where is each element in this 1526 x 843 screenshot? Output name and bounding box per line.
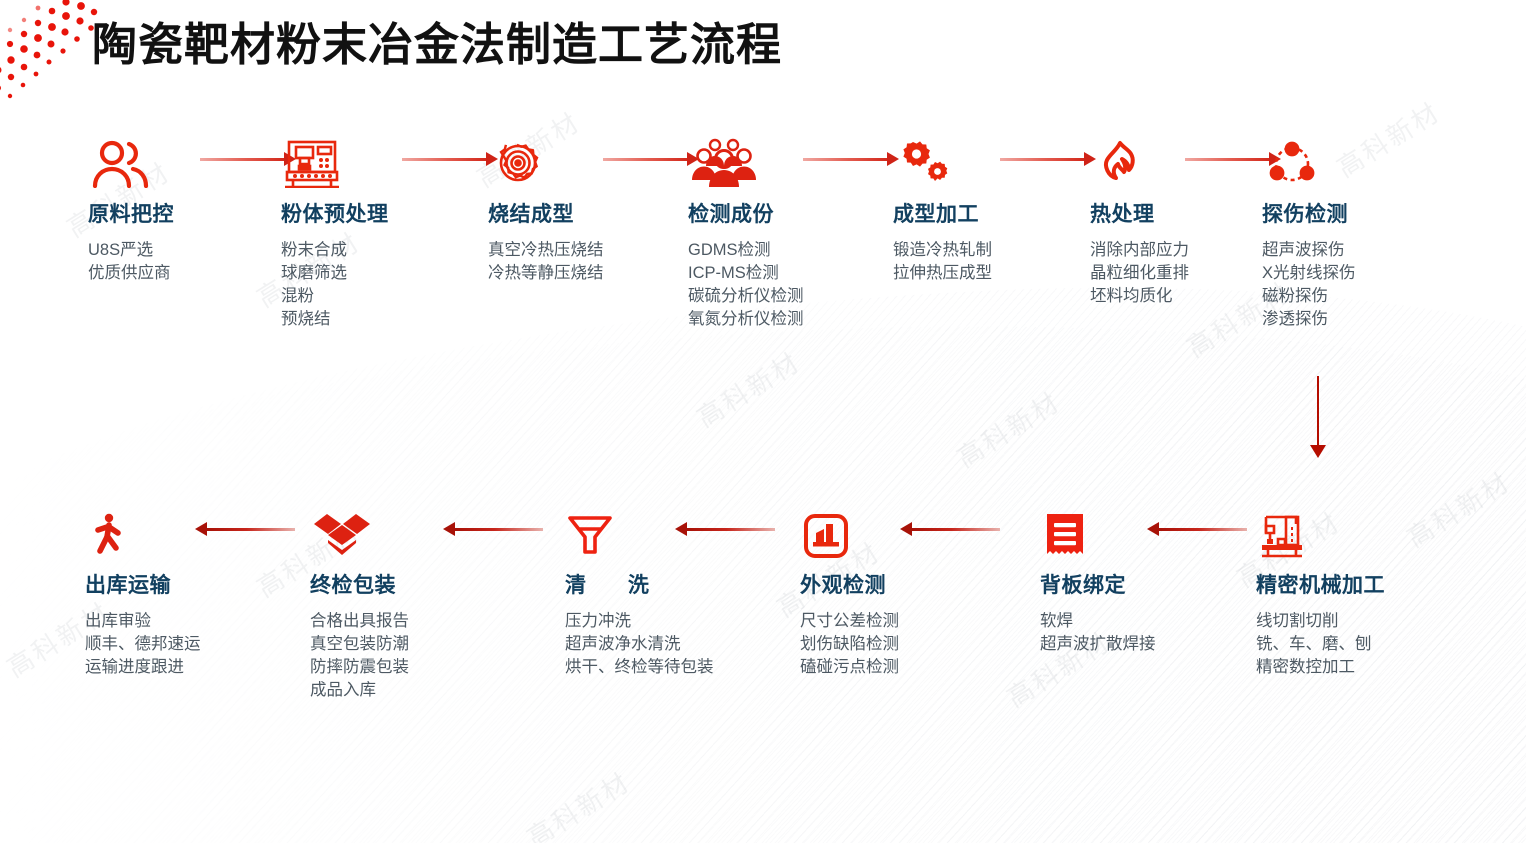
cnc-machine-icon bbox=[1256, 497, 1385, 559]
step-heading: 烧结成型 bbox=[488, 198, 604, 228]
list-item: 烘干、终检等待包装 bbox=[565, 656, 737, 679]
step-detail-list: 锻造冷热轧制 拉伸热压成型 bbox=[893, 239, 992, 285]
step-heat-treatment[interactable]: 热处理 消除内部应力 晶粒细化重排 坯料均质化 bbox=[1090, 126, 1189, 308]
molecule-icon bbox=[1262, 126, 1356, 188]
watermark: 高科新材 bbox=[689, 342, 807, 435]
people-group-icon bbox=[688, 126, 804, 188]
factory-inspect-icon bbox=[800, 497, 899, 559]
two-people-icon bbox=[88, 126, 174, 188]
arrow-left-2 bbox=[900, 522, 1000, 536]
list-item: 锻造冷热轧制 bbox=[893, 239, 992, 262]
step-detail-list: 超声波探伤 X光射线探伤 磁粉探伤 渗透探伤 bbox=[1262, 239, 1356, 331]
arrow-right-2 bbox=[402, 152, 498, 166]
list-item: X光射线探伤 bbox=[1262, 262, 1356, 285]
step-detail-list: 出库审验 顺丰、德邦速运 运输进度跟进 bbox=[85, 610, 201, 679]
list-item: 冷热等静压烧结 bbox=[488, 262, 604, 285]
step-flaw-detection[interactable]: 探伤检测 超声波探伤 X光射线探伤 磁粉探伤 渗透探伤 bbox=[1262, 126, 1356, 331]
step-detail-list: U8S严选 优质供应商 bbox=[88, 239, 174, 285]
gears-icon bbox=[893, 126, 992, 188]
list-item: 磕碰污点检测 bbox=[800, 656, 899, 679]
list-item: 拉伸热压成型 bbox=[893, 262, 992, 285]
step-heading: 精密机械加工 bbox=[1256, 569, 1385, 599]
list-item: 压力冲洗 bbox=[565, 610, 737, 633]
list-item: 超声波扩散焊接 bbox=[1040, 633, 1156, 656]
step-heading: 外观检测 bbox=[800, 569, 899, 599]
step-detail-list: 粉末合成 球磨筛选 混粉 预烧结 bbox=[281, 239, 389, 331]
step-outbound-transport[interactable]: 出库运输 出库审验 顺丰、德邦速运 运输进度跟进 bbox=[85, 497, 201, 679]
step-detail-list: 合格出具报告 真空包装防潮 防摔防震包装 成品入库 bbox=[310, 610, 409, 702]
list-item: 优质供应商 bbox=[88, 262, 174, 285]
list-item: 渗透探伤 bbox=[1262, 308, 1356, 331]
step-appearance-inspection[interactable]: 外观检测 尺寸公差检测 划伤缺陷检测 磕碰污点检测 bbox=[800, 497, 899, 679]
list-item: 顺丰、德邦速运 bbox=[85, 633, 201, 656]
step-detail-list: 压力冲洗 超声波净水清洗 烘干、终检等待包装 bbox=[565, 610, 737, 679]
list-item: 磁粉探伤 bbox=[1262, 285, 1356, 308]
list-item: ICP-MS检测 bbox=[688, 262, 804, 285]
list-item: 运输进度跟进 bbox=[85, 656, 201, 679]
watermark: 高科新材 bbox=[949, 382, 1067, 475]
step-powder-pretreatment[interactable]: 粉体预处理 粉末合成 球磨筛选 混粉 预烧结 bbox=[281, 126, 389, 331]
step-detail-list: 真空冷热压烧结 冷热等静压烧结 bbox=[488, 239, 604, 285]
step-final-inspection-packaging[interactable]: 终检包装 合格出具报告 真空包装防潮 防摔防震包装 成品入库 bbox=[310, 497, 409, 702]
list-item: 防摔防震包装 bbox=[310, 656, 409, 679]
walking-person-icon bbox=[85, 497, 201, 559]
step-backplate-bonding[interactable]: 背板绑定 软焊 超声波扩散焊接 bbox=[1040, 497, 1156, 656]
list-item: 预烧结 bbox=[281, 308, 389, 331]
list-item: GDMS检测 bbox=[688, 239, 804, 262]
list-item: U8S严选 bbox=[88, 239, 174, 262]
step-heading: 成型加工 bbox=[893, 198, 992, 228]
step-detail-list: GDMS检测 ICP-MS检测 碳硫分析仪检测 氧氮分析仪检测 bbox=[688, 239, 804, 331]
list-item: 超声波净水清洗 bbox=[565, 633, 737, 656]
list-item: 软焊 bbox=[1040, 610, 1156, 633]
process-flow-diagram: 高科新材 高科新材 高科新材 高科新材 高科新材 高科新材 高科新材 高科新材 … bbox=[0, 0, 1526, 843]
step-detail-list: 线切割切削 铣、车、磨、刨 精密数控加工 bbox=[1256, 610, 1385, 679]
list-item: 球磨筛选 bbox=[281, 262, 389, 285]
list-item: 成品入库 bbox=[310, 679, 409, 702]
page-title: 陶瓷靶材粉末冶金法制造工艺流程 bbox=[92, 8, 782, 73]
list-item: 尺寸公差检测 bbox=[800, 610, 899, 633]
step-heading: 探伤检测 bbox=[1262, 198, 1356, 228]
step-heading: 清 洗 bbox=[565, 569, 737, 599]
list-item: 划伤缺陷检测 bbox=[800, 633, 899, 656]
step-heading: 背板绑定 bbox=[1040, 569, 1156, 599]
list-item: 混粉 bbox=[281, 285, 389, 308]
arrow-right-4 bbox=[803, 152, 899, 166]
step-heading: 热处理 bbox=[1090, 198, 1189, 228]
list-item: 碳硫分析仪检测 bbox=[688, 285, 804, 308]
list-item: 出库审验 bbox=[85, 610, 201, 633]
list-item: 氧氮分析仪检测 bbox=[688, 308, 804, 331]
watermark: 高科新材 bbox=[1399, 462, 1517, 555]
list-item: 精密数控加工 bbox=[1256, 656, 1385, 679]
step-heading: 终检包装 bbox=[310, 569, 409, 599]
step-forming-machining[interactable]: 成型加工 锻造冷热轧制 拉伸热压成型 bbox=[893, 126, 992, 285]
list-item: 合格出具报告 bbox=[310, 610, 409, 633]
open-box-icon bbox=[310, 497, 409, 559]
list-item: 真空包装防潮 bbox=[310, 633, 409, 656]
step-heading: 出库运输 bbox=[85, 569, 201, 599]
arrow-left-1 bbox=[1147, 522, 1247, 536]
arrow-right-5 bbox=[1000, 152, 1096, 166]
step-raw-material-control[interactable]: 原料把控 U8S严选 优质供应商 bbox=[88, 126, 174, 285]
step-composition-testing[interactable]: 检测成份 GDMS检测 ICP-MS检测 碳硫分析仪检测 氧氮分析仪检测 bbox=[688, 126, 804, 331]
step-heading: 检测成份 bbox=[688, 198, 804, 228]
step-detail-list: 软焊 超声波扩散焊接 bbox=[1040, 610, 1156, 656]
arrow-down-connector bbox=[1310, 376, 1326, 458]
list-item: 真空冷热压烧结 bbox=[488, 239, 604, 262]
list-item: 铣、车、磨、刨 bbox=[1256, 633, 1385, 656]
flame-icon bbox=[1090, 126, 1189, 188]
arrow-left-5 bbox=[195, 522, 295, 536]
list-item: 粉末合成 bbox=[281, 239, 389, 262]
watermark: 高科新材 bbox=[519, 762, 637, 843]
step-precision-machining[interactable]: 精密机械加工 线切割切削 铣、车、磨、刨 精密数控加工 bbox=[1256, 497, 1385, 679]
list-item: 消除内部应力 bbox=[1090, 239, 1189, 262]
step-heading: 粉体预处理 bbox=[281, 198, 389, 228]
list-item: 线切割切削 bbox=[1256, 610, 1385, 633]
arrow-left-4 bbox=[443, 522, 543, 536]
step-detail-list: 尺寸公差检测 划伤缺陷检测 磕碰污点检测 bbox=[800, 610, 899, 679]
list-item: 晶粒细化重排 bbox=[1090, 262, 1189, 285]
list-item: 超声波探伤 bbox=[1262, 239, 1356, 262]
list-item: 坯料均质化 bbox=[1090, 285, 1189, 308]
arrow-right-3 bbox=[603, 152, 699, 166]
step-cleaning[interactable]: 清 洗 压力冲洗 超声波净水清洗 烘干、终检等待包装 bbox=[565, 497, 737, 679]
ticket-icon bbox=[1040, 497, 1156, 559]
funnel-icon bbox=[565, 497, 737, 559]
step-sintering-forming[interactable]: 烧结成型 真空冷热压烧结 冷热等静压烧结 bbox=[488, 126, 604, 285]
step-detail-list: 消除内部应力 晶粒细化重排 坯料均质化 bbox=[1090, 239, 1189, 308]
step-heading: 原料把控 bbox=[88, 198, 174, 228]
press-machine-icon bbox=[281, 126, 389, 188]
gear-spiral-icon bbox=[488, 126, 604, 188]
